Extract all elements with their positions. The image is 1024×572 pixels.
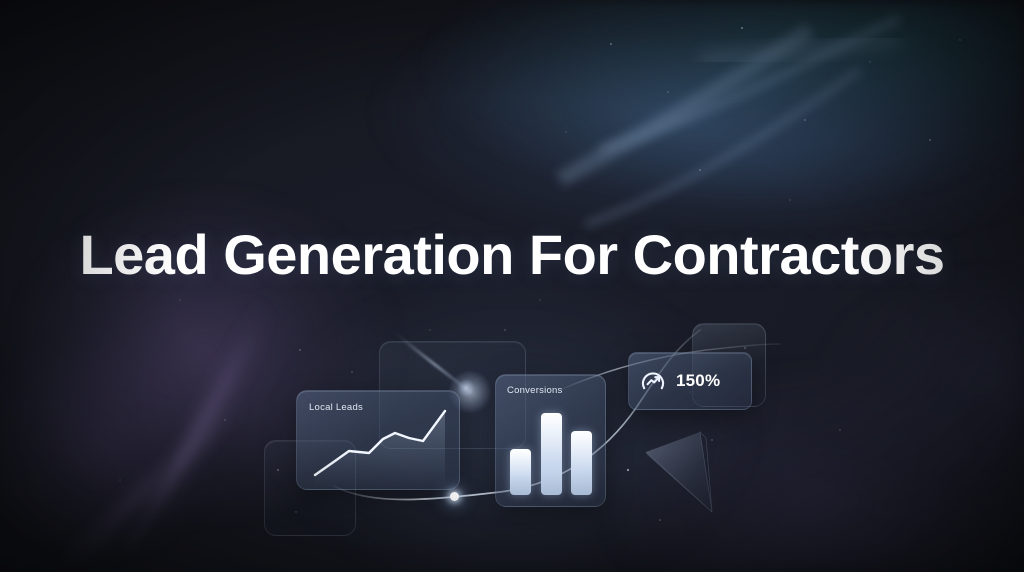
conversions-bar-chart: [510, 413, 592, 495]
conversions-bar-2: [541, 413, 562, 495]
gauge-trending-up-icon: [639, 367, 667, 395]
card-local-leads-label: Local Leads: [309, 402, 363, 413]
card-metric[interactable]: 150%: [628, 352, 752, 410]
metric-value: 150%: [676, 371, 720, 391]
illustration-scene: Local Leads Conversions 150%: [0, 0, 1024, 572]
conversions-bar-3: [571, 431, 592, 495]
card-local-leads[interactable]: Local Leads: [296, 390, 460, 490]
hero-banner: Lead Generation For Contractors: [0, 0, 1024, 572]
card-conversions-label: Conversions: [507, 385, 563, 396]
connector-node: [450, 492, 459, 501]
card-conversions[interactable]: Conversions: [495, 374, 606, 507]
conversions-bar-1: [510, 449, 531, 495]
